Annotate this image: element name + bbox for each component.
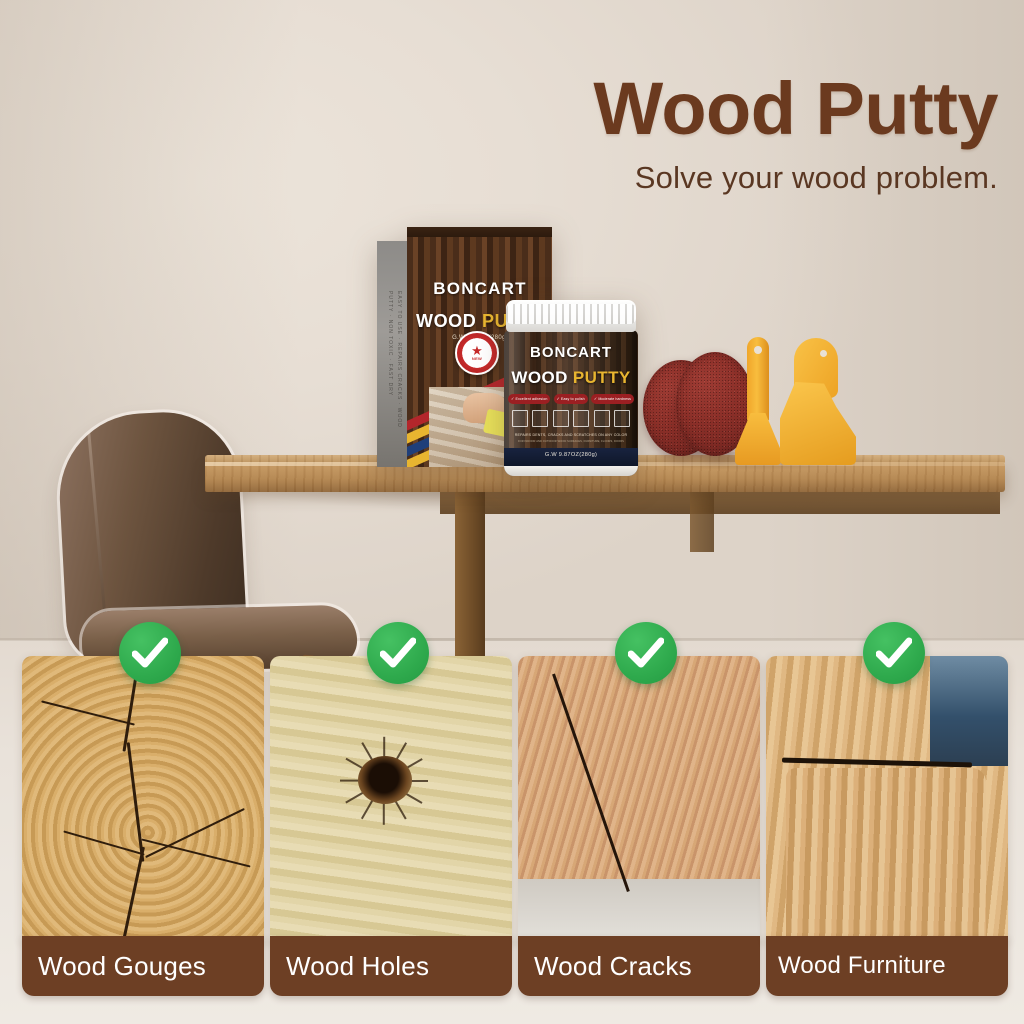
page-title: Wood Putty [378,70,998,148]
use-case-card-grid: Wood Gouges Wood Holes [0,640,1024,1024]
background-floor [518,879,760,941]
usage-icon [532,410,548,427]
box-side-text: EASY TO USE · REPAIRS CRACKS · WOOD PUTT… [381,291,403,451]
feature-bullet: ✓ Easy to polish [554,394,588,404]
jar-description-sub: FOR INDOOR AND OUTDOOR WOOD SURFACES, FU… [504,440,638,443]
use-case-card[interactable]: Wood Gouges [22,640,264,1000]
background-sky [930,656,1008,766]
check-icon [876,637,912,669]
check-icon [628,637,664,669]
jar-base [504,466,638,476]
knot-hole-texture [270,656,512,941]
box-side-panel: EASY TO USE · REPAIRS CRACKS · WOOD PUTT… [377,241,407,467]
use-case-card[interactable]: Wood Cracks [518,640,760,1000]
use-case-card[interactable]: Wood Furniture [766,640,1008,1000]
crack-line [552,674,630,892]
jar-brand-name: BONCART [504,344,638,361]
check-badge [863,622,925,684]
check-icon: ✓ [511,396,514,401]
feature-bullet: ✓ Moderate hardness [591,394,634,404]
jar-lid-ribs [506,304,636,324]
usage-icon [573,410,589,427]
plastic-scraper-large [780,338,856,465]
feature-label: Excellent adhesion [515,397,547,401]
use-case-card[interactable]: Wood Holes [270,640,512,1000]
use-case-label: Wood Gouges [22,936,264,996]
check-badge [367,622,429,684]
table-leg [690,492,714,552]
log-end-texture [22,656,264,941]
check-badge [615,622,677,684]
feature-label: Easy to polish [561,397,585,401]
jar-body: BONCART WOOD PUTTY ✓ Excellent adhesion … [504,330,638,476]
star-icon: ★ [471,345,483,356]
table-corner-texture [518,656,760,941]
furniture-joint-texture [766,656,1008,941]
check-icon: ✓ [557,396,560,401]
use-case-label: Wood Holes [270,936,512,996]
box-top-flap [407,227,552,237]
table-apron [440,492,1000,514]
check-icon [380,637,416,669]
page-subtitle: Solve your wood problem. [378,160,998,196]
use-case-label: Wood Cracks [518,936,760,996]
knot-hole [358,756,412,804]
usage-icon [614,410,630,427]
usage-icon [512,410,528,427]
use-case-photo [22,656,264,941]
check-badge [119,622,181,684]
usage-icon [594,410,610,427]
check-icon [132,637,168,669]
jar-net-weight: G.W 9.87OZ(280g) [504,452,638,458]
usage-icon [553,410,569,427]
use-case-photo [270,656,512,941]
box-brand-name: BONCART [417,279,543,299]
jar-usage-icons [512,410,630,430]
use-case-photo [518,656,760,941]
jar-product-word2: PUTTY [573,368,631,387]
furniture-block [786,768,986,940]
jar-feature-bullets: ✓ Excellent adhesion ✓ Easy to polish ✓ … [508,394,634,404]
jar-product-name: WOOD PUTTY [504,368,638,388]
feature-bullet: ✓ Excellent adhesion [508,394,550,404]
seal-label: NEW [472,356,482,361]
headline-block: Wood Putty Solve your wood problem. [378,70,998,196]
check-icon: ✓ [594,396,597,401]
box-product-word1: WOOD [416,311,476,331]
jar-product-word1: WOOD [511,368,567,387]
feature-label: Moderate hardness [598,397,631,401]
use-case-photo [766,656,1008,941]
plastic-scraper-small [735,337,781,465]
product-jar: BONCART WOOD PUTTY ✓ Excellent adhesion … [504,300,638,476]
jar-description: REPAIRS DENTS, CRACKS AND SCRATCHES ON A… [504,433,638,437]
use-case-label: Wood Furniture [766,936,1008,996]
new-seal-badge: ★ NEW [455,331,499,375]
